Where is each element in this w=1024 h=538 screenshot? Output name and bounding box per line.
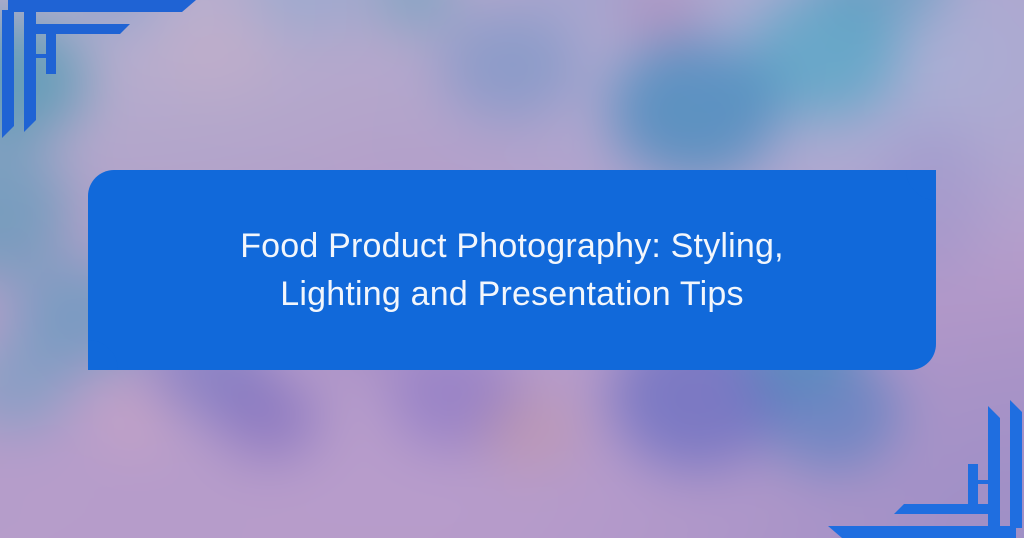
page-title: Food Product Photography: Styling, Light… <box>212 222 812 319</box>
bokeh-blob <box>220 375 320 460</box>
banner-notch-bottom-left <box>88 340 118 370</box>
title-banner: Food Product Photography: Styling, Light… <box>88 170 936 370</box>
bokeh-blob <box>480 390 580 470</box>
bokeh-blob <box>90 380 180 455</box>
bokeh-blob <box>160 15 270 95</box>
bokeh-blob <box>440 10 580 120</box>
bokeh-blob <box>610 40 780 180</box>
banner-notch-top-right <box>906 170 936 200</box>
article-header-card: Food Product Photography: Styling, Light… <box>0 0 1024 538</box>
